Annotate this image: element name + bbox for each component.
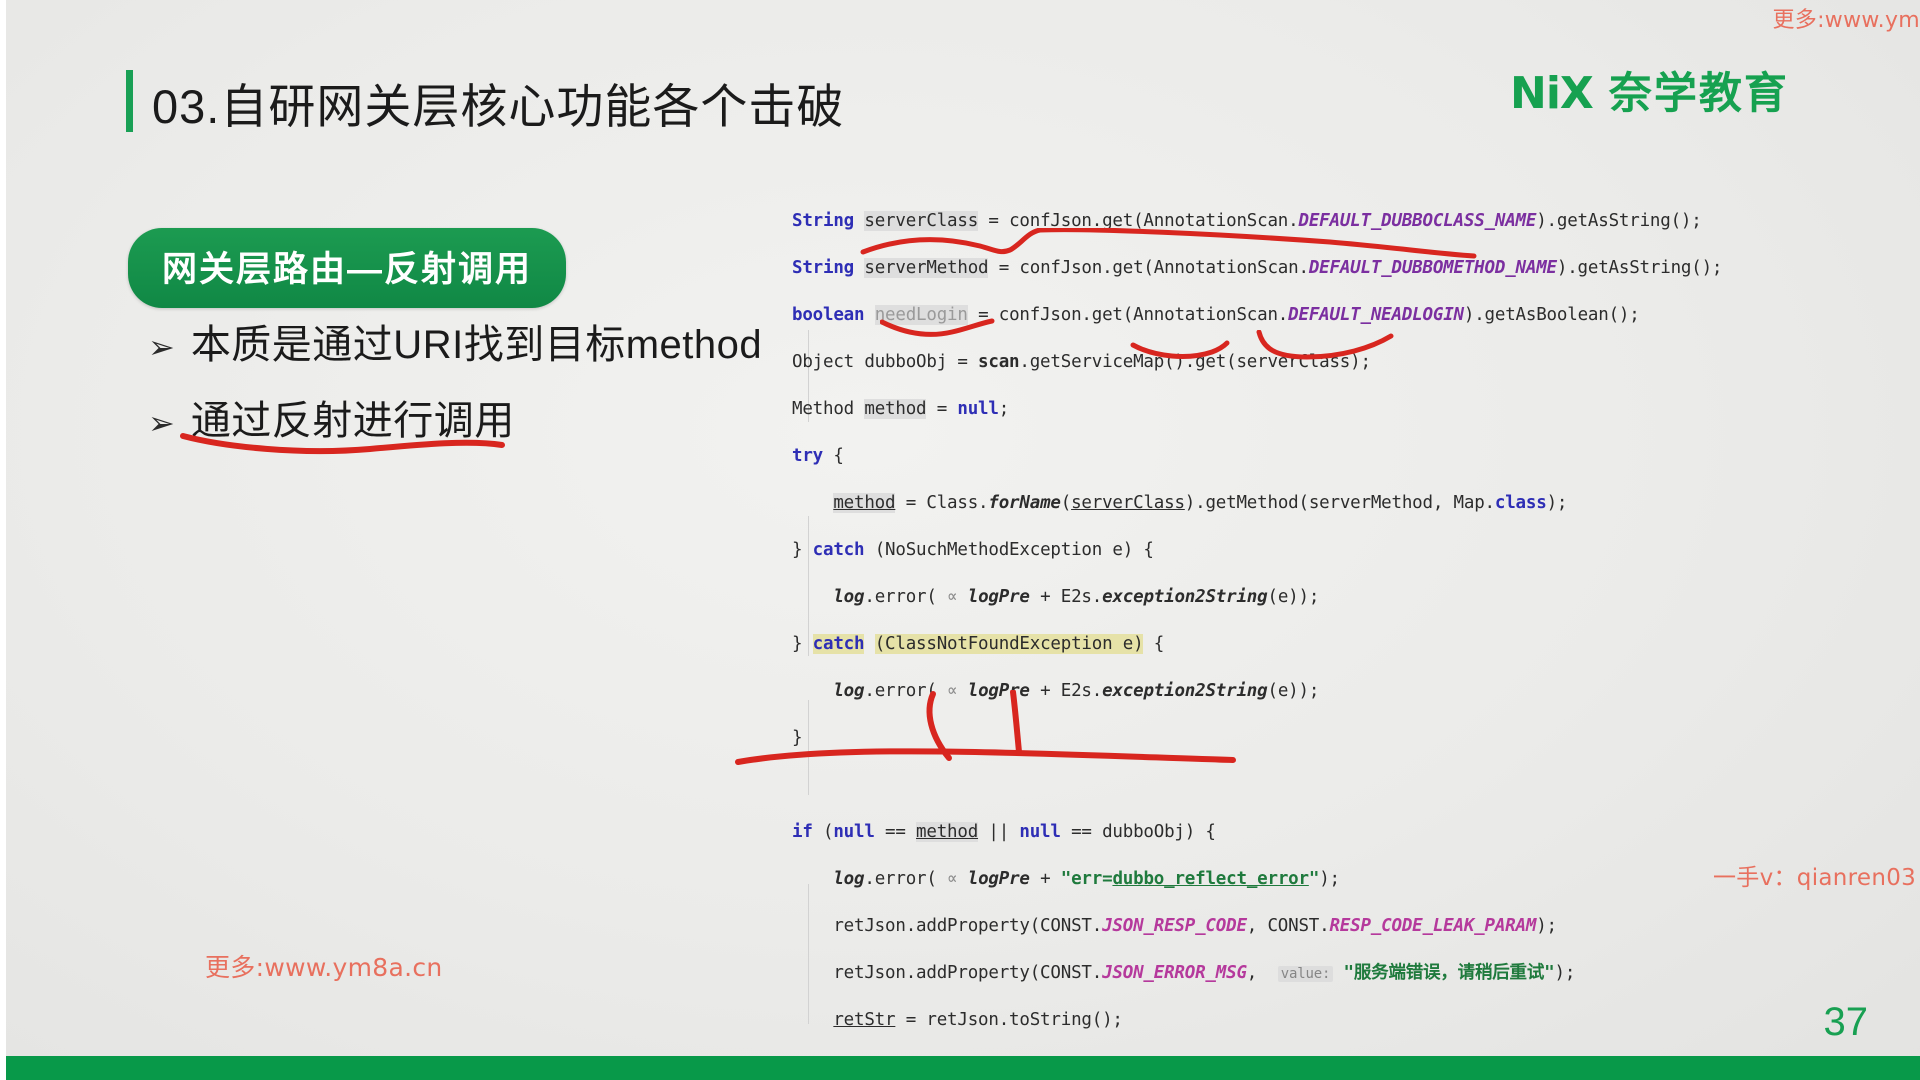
code-line: log.error( ∝ logPre + E2s.exception2Stri…	[792, 680, 1882, 704]
bullet-arrow-icon: ➢	[148, 331, 175, 363]
watermark-bottom-left: 更多:www.ym8a.cn	[205, 948, 443, 984]
slide-header: 03.自研网关层核心功能各个击破 NiX 奈学教育	[0, 0, 1920, 150]
brand-logo: NiX 奈学教育	[1510, 72, 1789, 116]
code-line: String serverMethod = confJson.get(Annot…	[792, 257, 1882, 281]
logo-mark-icon: NiX	[1510, 72, 1593, 116]
logo-text: 奈学教育	[1609, 73, 1789, 116]
bullet-label-0: 本质是通过URI找到目标method	[191, 312, 762, 370]
code-line: if (null == method || null == dubboObj) …	[792, 821, 1882, 845]
code-line: try {	[792, 445, 1882, 469]
code-line	[792, 774, 1882, 798]
page-title: 03.自研网关层核心功能各个击破	[152, 68, 844, 137]
code-line: }	[792, 727, 1882, 751]
slide-canvas: 更多:www.ym 更多:www.ym8a.cn 一手v：qianren03 0…	[0, 0, 1920, 1080]
page-number: 37	[1824, 1000, 1869, 1045]
code-line: retStr = retJson.toString();	[792, 1009, 1882, 1033]
code-block: String serverClass = confJson.get(Annota…	[792, 186, 1882, 1080]
watermark-contact: 一手v：qianren03	[1713, 858, 1916, 892]
code-line: Object dubboObj = scan.getServiceMap().g…	[792, 351, 1882, 375]
code-line: retJson.addProperty(CONST.JSON_RESP_CODE…	[792, 915, 1882, 939]
bullet-item-0: ➢ 本质是通过URI找到目标method	[148, 312, 762, 370]
code-line: retJson.addProperty(CONST.JSON_ERROR_MSG…	[792, 962, 1882, 986]
code-line: method = Class.forName(serverClass).getM…	[792, 492, 1882, 516]
bullet-item-1: ➢ 通过反射进行调用	[148, 388, 515, 446]
code-line: log.error( ∝ logPre + E2s.exception2Stri…	[792, 586, 1882, 610]
code-line: } catch (ClassNotFoundException e) {	[792, 633, 1882, 657]
bullet-label-1: 通过反射进行调用	[191, 388, 515, 446]
section-badge: 网关层路由—反射调用	[128, 228, 566, 308]
left-edge-strip	[0, 0, 6, 1080]
bullet-arrow-icon: ➢	[148, 407, 175, 439]
title-accent-bar	[126, 70, 133, 132]
code-line: boolean needLogin = confJson.get(Annotat…	[792, 304, 1882, 328]
footer-accent-bar	[0, 1056, 1920, 1080]
code-line: Method method = null;	[792, 398, 1882, 422]
watermark-top-right: 更多:www.ym	[1772, 2, 1920, 34]
code-line: } catch (NoSuchMethodException e) {	[792, 539, 1882, 563]
code-line: String serverClass = confJson.get(Annota…	[792, 210, 1882, 234]
